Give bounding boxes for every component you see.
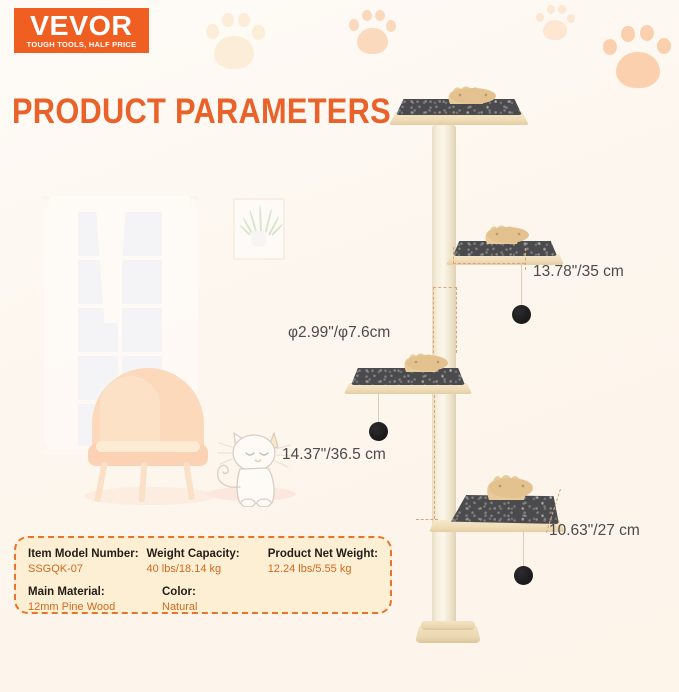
- spec-row: Main Material: 12mm Pine Wood Color: Nat…: [28, 585, 378, 614]
- spec-value: SSGQK-07: [28, 562, 147, 576]
- infographic-page: VEVOR TOUGH TOOLS, HALF PRICE PRODUCT PA…: [0, 0, 679, 692]
- product-spec-box: Item Model Number: SSGQK-07 Weight Capac…: [14, 536, 392, 614]
- dimension-guide-level3-right: [434, 395, 435, 519]
- dimension-label-post-diameter: φ2.99"/φ7.6cm: [288, 324, 390, 342]
- spec-label: Product Net Weight:: [268, 547, 378, 561]
- page-title: PRODUCT PARAMETERS: [12, 92, 391, 132]
- spec-value: 12mm Pine Wood: [28, 600, 162, 614]
- framed-plant-picture: [233, 198, 285, 260]
- spec-value: 12.24 lbs/5.55 kg: [268, 562, 378, 576]
- spec-item-main-material: Main Material: 12mm Pine Wood: [28, 585, 162, 614]
- curtain-left: [44, 208, 78, 450]
- dimension-guide-post-left: [433, 287, 434, 353]
- dimension-guide-post-top: [433, 287, 457, 288]
- dimension-guide-post-right: [456, 287, 457, 353]
- plant-pot: [252, 231, 267, 247]
- vevor-logo: VEVOR TOUGH TOOLS, HALF PRICE: [14, 8, 149, 53]
- spec-item-weight-capacity: Weight Capacity: 40 lbs/18.14 kg: [147, 547, 268, 576]
- dimension-label-shelf-depth: 13.78"/35 cm: [533, 263, 624, 281]
- dimension-guide-level2-top: [453, 263, 525, 264]
- armchair-cushion: [96, 441, 200, 452]
- spec-value: 40 lbs/18.14 kg: [147, 562, 268, 576]
- dimension-guide-level4-left: [416, 519, 438, 520]
- spec-row: Item Model Number: SSGQK-07 Weight Capac…: [28, 547, 378, 576]
- spec-item-color: Color: Natural: [162, 585, 299, 614]
- spec-item-model-number: Item Model Number: SSGQK-07: [28, 547, 147, 576]
- dimension-label-shelf-width: 14.37"/36.5 cm: [282, 446, 386, 464]
- dimension-label-lower-shelf-depth: 10.63"/27 cm: [549, 522, 640, 540]
- logo-wordmark: VEVOR: [30, 13, 133, 39]
- spec-item-net-weight: Product Net Weight: 12.24 lbs/5.55 kg: [268, 547, 378, 576]
- spec-label: Color:: [162, 585, 299, 599]
- armchair-shadow: [84, 487, 216, 505]
- logo-tagline: TOUGH TOOLS, HALF PRICE: [27, 40, 137, 49]
- dimension-guide-level2-right: [525, 248, 526, 270]
- spec-label: Weight Capacity:: [147, 547, 268, 561]
- spec-value: Natural: [162, 600, 299, 614]
- spec-label: Item Model Number:: [28, 547, 147, 561]
- spec-label: Main Material:: [28, 585, 162, 599]
- dimension-guide-level2-left: [453, 247, 454, 264]
